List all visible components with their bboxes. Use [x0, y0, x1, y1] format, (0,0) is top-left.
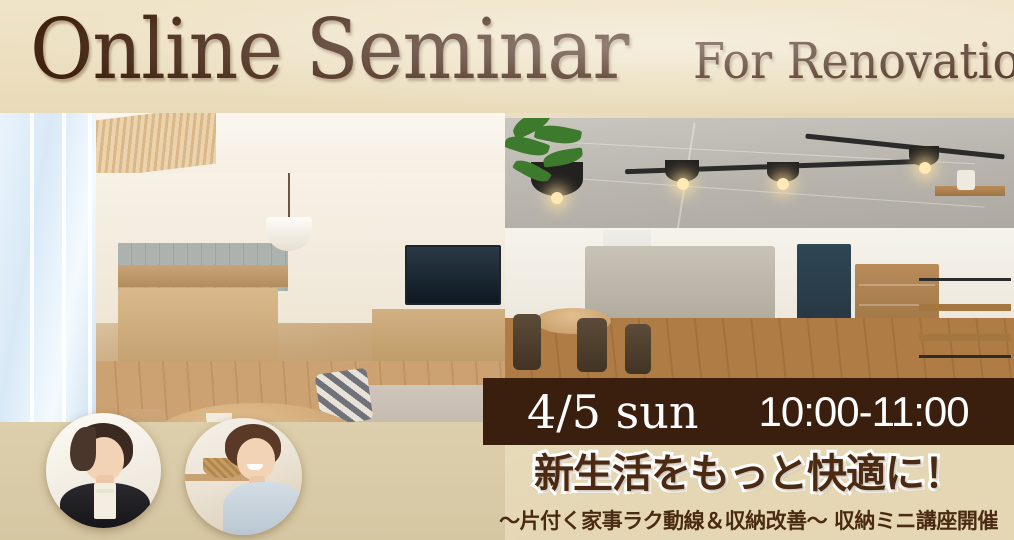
page-title: Online Seminar	[30, 8, 628, 91]
page-subtitle: For Renovation	[693, 36, 1014, 86]
hair-side	[70, 427, 96, 471]
kitchen-cabinet	[118, 265, 288, 287]
window-mullion	[30, 113, 34, 422]
sofa	[352, 385, 502, 422]
face	[237, 438, 275, 480]
header-banner: Online Seminar For Renovation	[0, 0, 1014, 113]
event-time: 10:00-11:00	[759, 391, 969, 433]
dining-chair	[625, 324, 651, 374]
pendant-cord	[288, 173, 290, 221]
necklace	[96, 489, 114, 493]
dining-chair	[577, 318, 607, 372]
hanging-plant	[505, 118, 625, 204]
shelf-board	[919, 334, 1011, 341]
headline-block: 新生活をもっと快適に！	[483, 446, 1014, 502]
window-mullion	[88, 113, 92, 422]
tv-stand	[372, 309, 505, 369]
subline-text: 〜片付く家事ラク動線＆収納改善〜 収納ミニ講座開催	[499, 511, 998, 532]
shelf-board	[919, 304, 1011, 311]
light-bulb	[677, 178, 689, 190]
window-shape	[0, 113, 96, 422]
subline-block: 〜片付く家事ラク動線＆収納改善〜 収納ミニ講座開催	[483, 505, 1014, 537]
headline-text: 新生活をもっと快適に！	[534, 454, 963, 494]
living-dining-room-photo	[0, 113, 505, 422]
dining-chair	[513, 314, 541, 370]
window-mullion	[62, 113, 66, 422]
shelving-unit	[919, 278, 1011, 358]
presenter-portrait-1	[46, 413, 161, 528]
event-date: 4/5 sun	[527, 389, 699, 435]
light-bulb	[919, 162, 931, 174]
date-time-banner: 4/5 sun 10:00-11:00	[483, 378, 1014, 445]
industrial-kitchen-room-photo	[505, 118, 1014, 378]
television	[405, 245, 501, 305]
seminar-poster: Online Seminar For Renovation	[0, 0, 1014, 540]
header-title-group: Online Seminar For Renovation	[30, 8, 1000, 91]
presenter-portrait-2	[185, 418, 302, 535]
vase	[957, 170, 975, 190]
light-blue-sweater	[223, 482, 302, 535]
light-bulb	[777, 178, 789, 190]
